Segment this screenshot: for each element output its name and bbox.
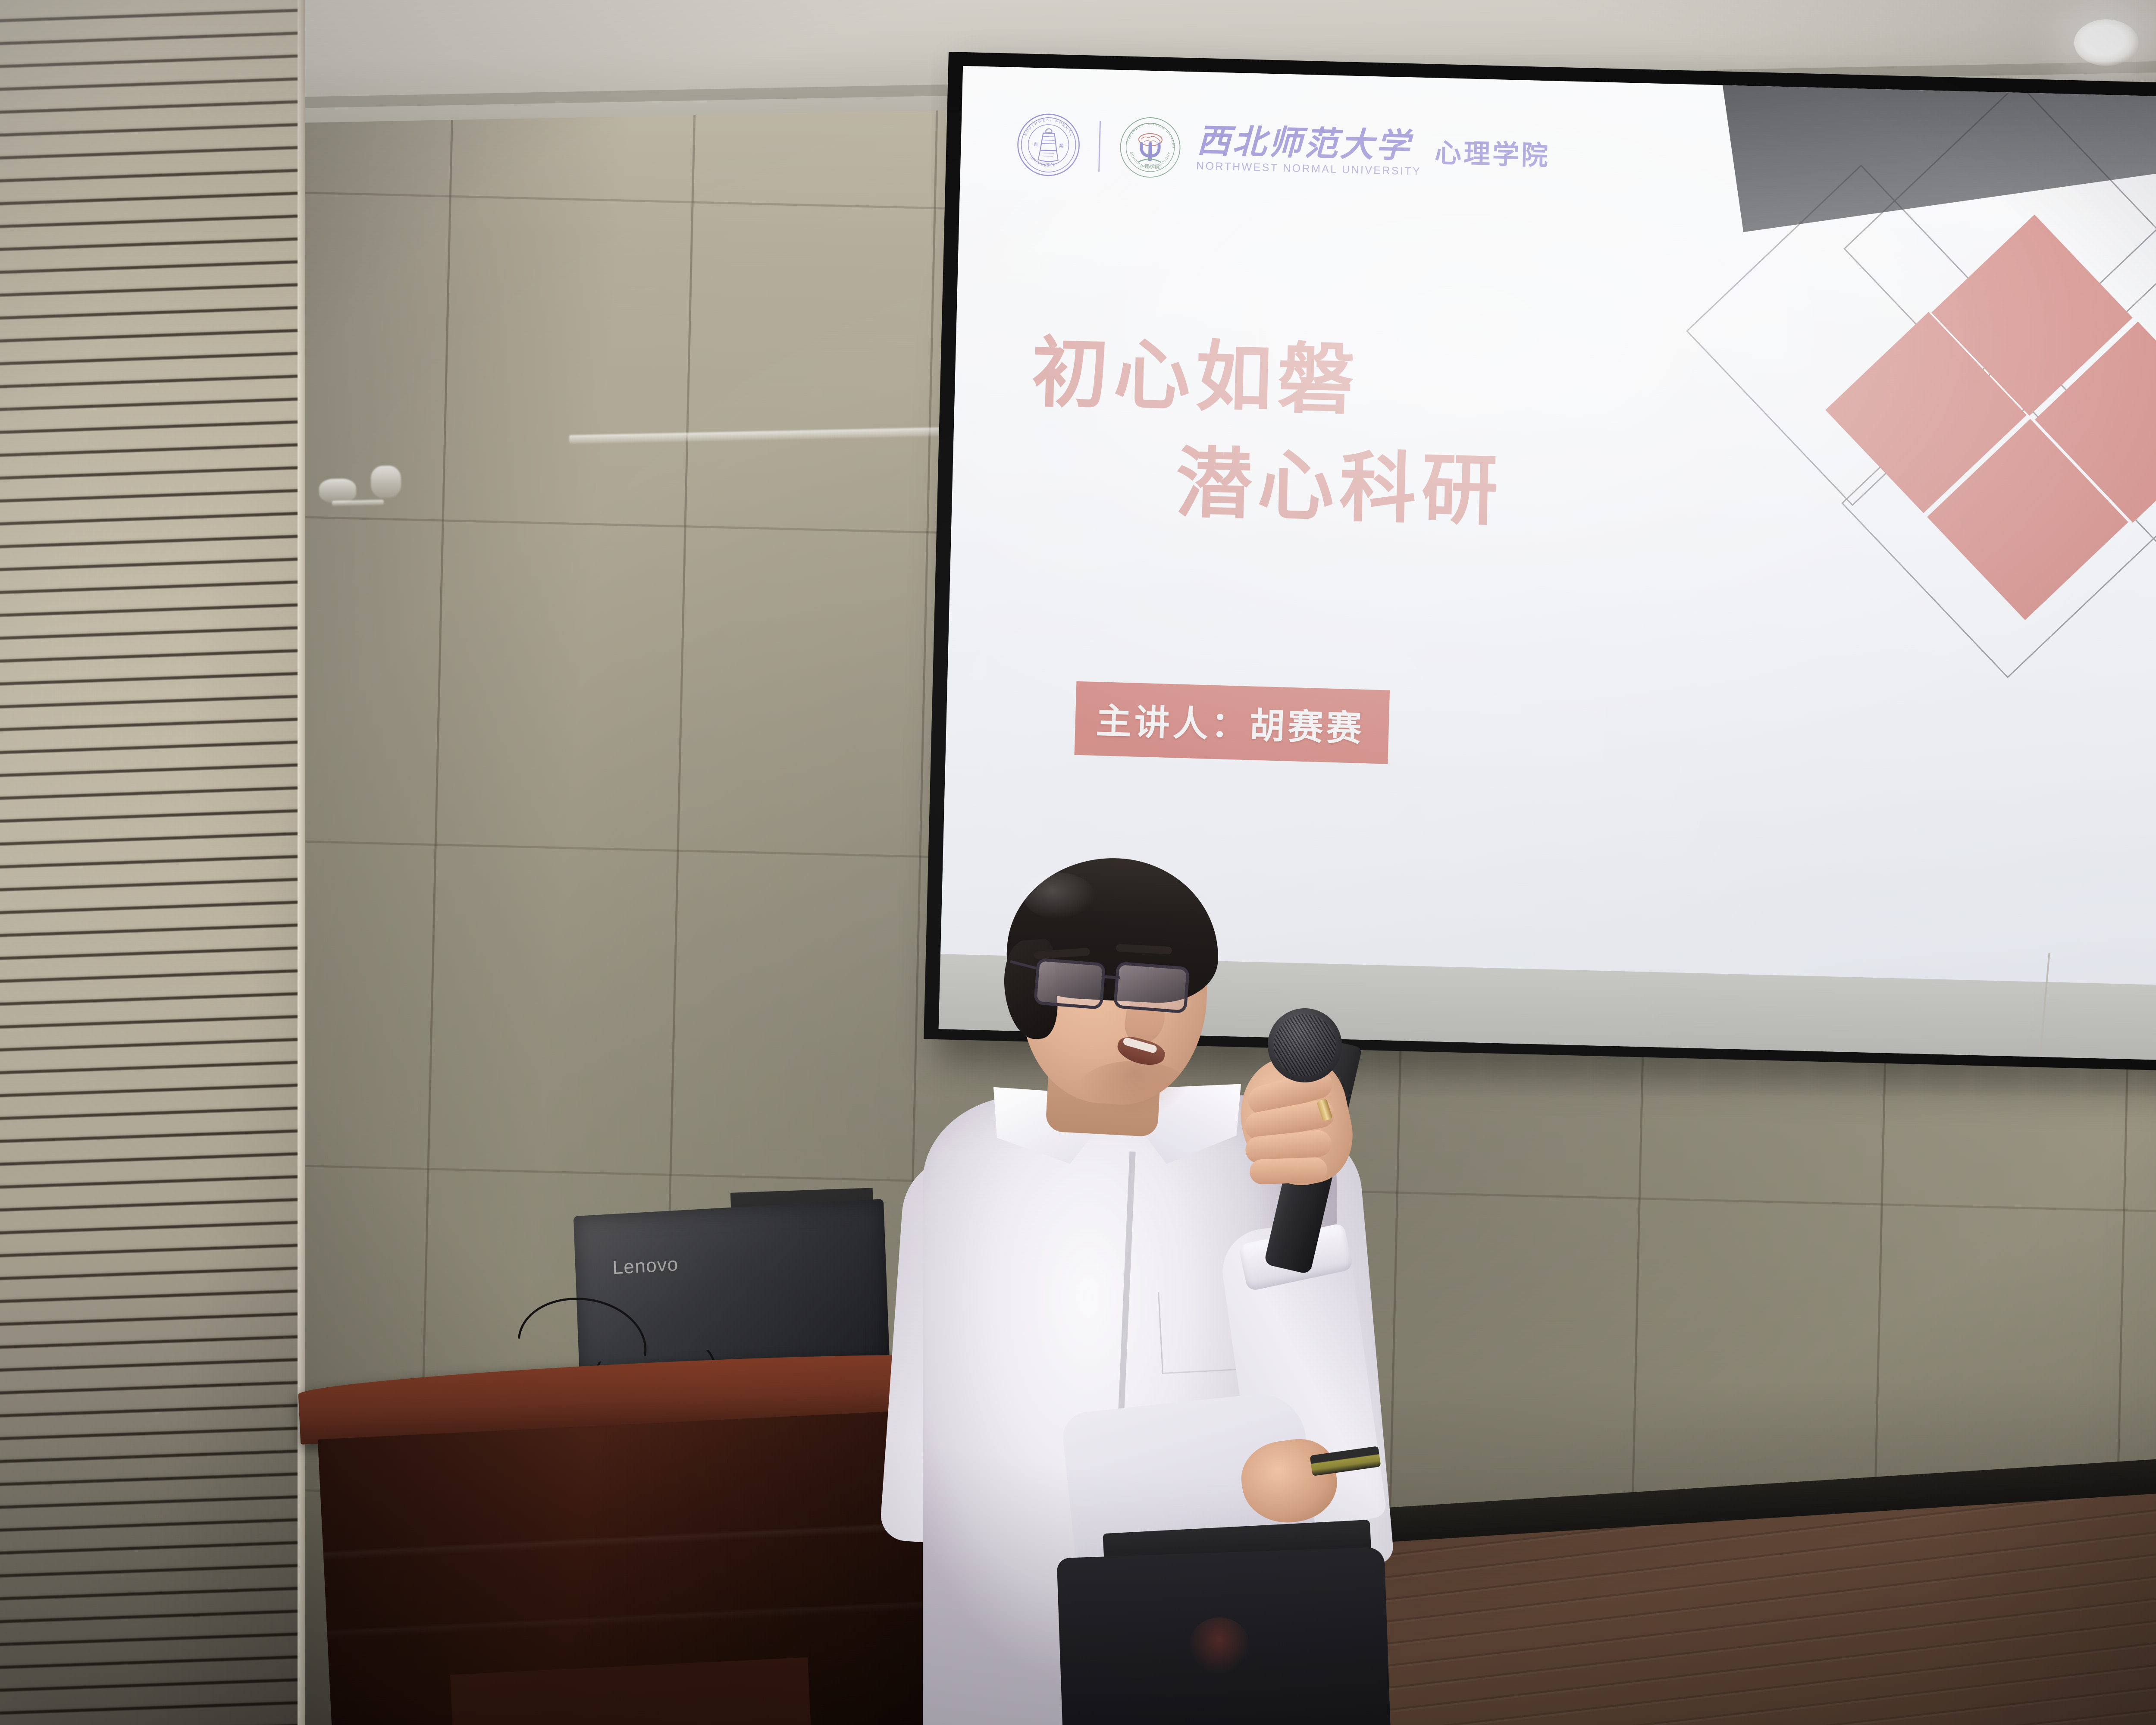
- presentation-slide: NORTHWEST NORMAL UNIVERSITY 1902: [940, 66, 2156, 988]
- diamond-cluster-decoration: [1697, 120, 2156, 860]
- trousers: [1056, 1547, 1392, 1725]
- slide-title-block: 初心如磐 潜心科研: [1028, 334, 1507, 530]
- school-of-psychology-seal-icon: NORTHWEST NORMAL UNIVERSITY SCHOOL OF PS…: [1117, 115, 1183, 180]
- speaker-name-badge: 主讲人：胡赛赛: [1075, 681, 1390, 764]
- jaw-shadow: [1078, 1061, 1190, 1117]
- svg-text:1902: 1902: [1044, 162, 1052, 166]
- slide-header: NORTHWEST NORMAL UNIVERSITY 1902: [1015, 112, 1551, 190]
- speaker-at-podium: [897, 854, 1501, 1725]
- finger: [1249, 1157, 1328, 1185]
- eyeglass-lens-right: [1113, 961, 1190, 1013]
- eyeglass-lens-left: [1034, 958, 1106, 1010]
- wall-tape-residue-mark: [319, 478, 356, 503]
- department-name: 心理学院: [1434, 131, 1551, 182]
- slide-title-line-1: 初心如磐: [1031, 334, 1507, 423]
- speaker-name-label: 主讲人：胡赛赛: [1096, 702, 1365, 749]
- svg-text:心理学院: 心理学院: [1139, 163, 1160, 169]
- lecture-hall-photo: NORTHWEST NORMAL UNIVERSITY 1902: [0, 0, 2156, 1725]
- slatted-acoustic-wall-panel: [0, 0, 302, 1725]
- university-wordmark: 西北师范大学 NORTHWEST NORMAL UNIVERSITY 心理学院: [1196, 125, 1551, 182]
- slide-title-line-2: 潜心科研: [1175, 445, 1504, 530]
- wordmark-chinese: 西北师范大学: [1197, 125, 1423, 163]
- header-divider: [1098, 121, 1101, 172]
- northwest-normal-university-seal-icon: NORTHWEST NORMAL UNIVERSITY 1902: [1015, 112, 1081, 178]
- ceiling-downlight-left-icon: [2074, 19, 2139, 66]
- svg-text:創: 創: [1034, 141, 1038, 147]
- wall-tape-residue-mark: [370, 465, 401, 498]
- laptop-brand-label: Lenovo: [612, 1254, 679, 1279]
- svg-text:業: 業: [1059, 143, 1063, 149]
- wall-tape-residue-mark: [332, 500, 384, 506]
